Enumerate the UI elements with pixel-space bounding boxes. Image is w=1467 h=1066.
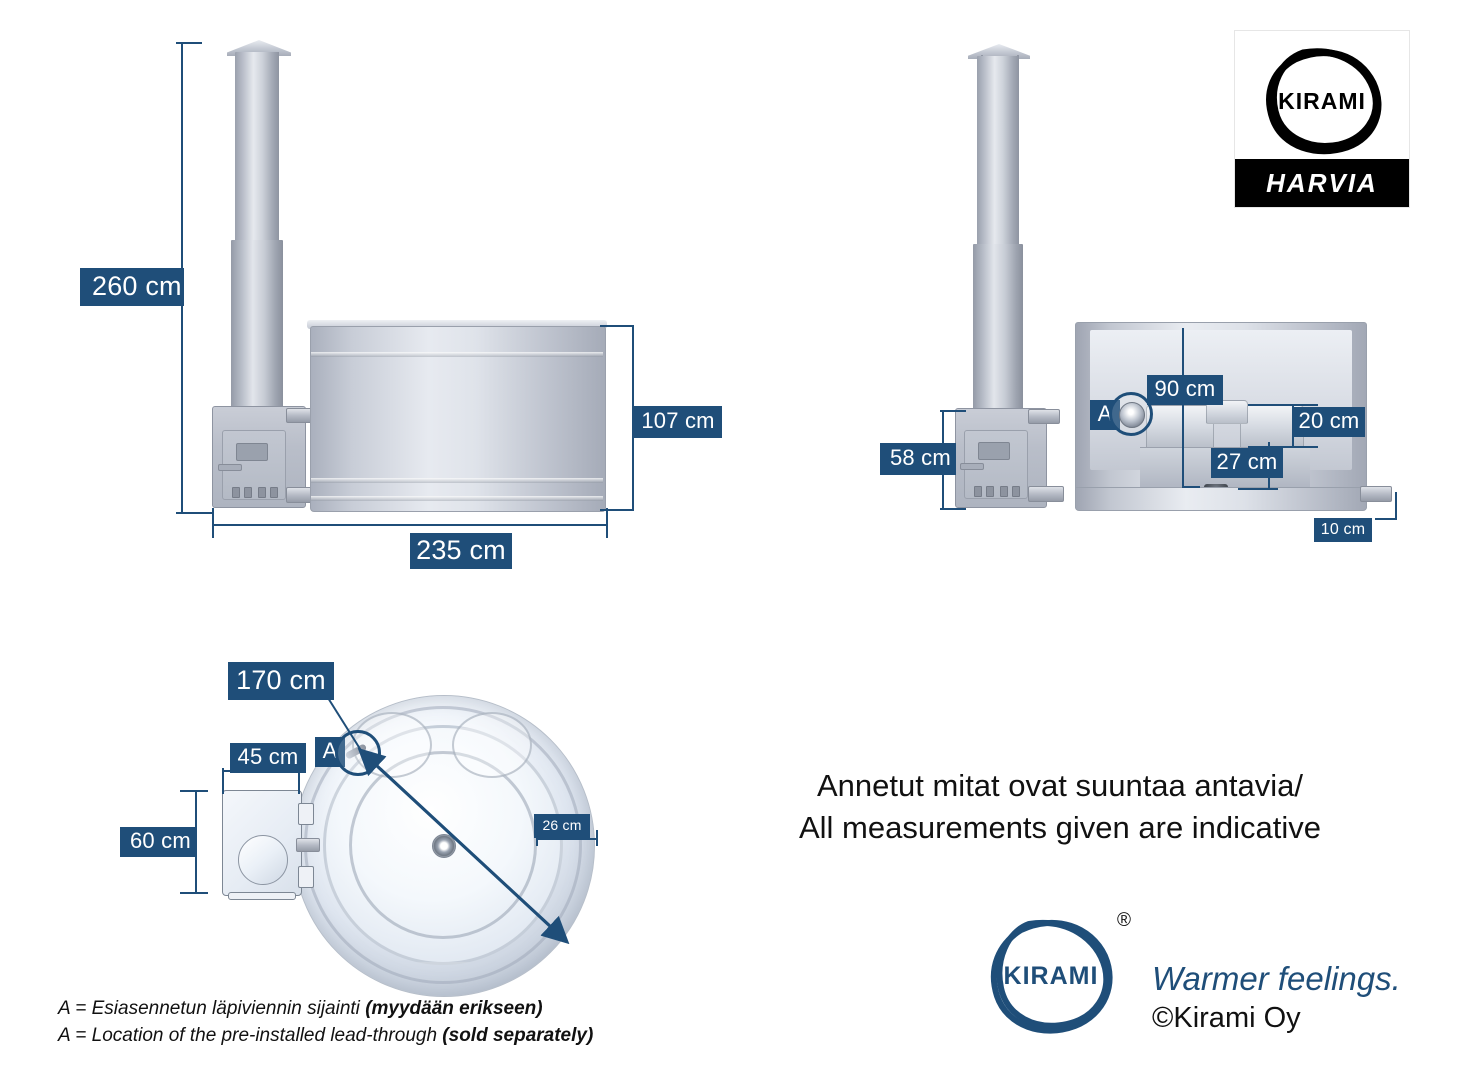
dim-60-tick-top bbox=[180, 790, 208, 792]
svg-text:KIRAMI: KIRAMI bbox=[1004, 962, 1099, 990]
dimension-label-170cm: 170 cm bbox=[228, 662, 334, 700]
heater-plan-chimney-hole bbox=[238, 835, 288, 885]
tagline: Warmer feelings. bbox=[1152, 960, 1401, 998]
dimension-label-235cm: 235 cm bbox=[410, 533, 512, 569]
drawing-canvas: 260 cm 107 cm 235 cm bbox=[0, 0, 1467, 1066]
section-heater-vent bbox=[1000, 486, 1008, 497]
dim-260-tick-top bbox=[176, 42, 202, 44]
legend-note: A = Esiasennetun läpiviennin sijainti (m… bbox=[58, 995, 698, 1049]
dim-45-tick-left bbox=[222, 768, 224, 794]
heater-vent bbox=[270, 487, 278, 498]
heater-vent bbox=[258, 487, 266, 498]
legend-fi-text: A = Esiasennetun läpiviennin sijainti bbox=[58, 998, 365, 1019]
dimension-label-58cm: 58 cm bbox=[880, 443, 956, 475]
legend-en-bold: (sold separately) bbox=[442, 1025, 593, 1046]
dim-107-tick-top bbox=[600, 325, 634, 327]
dim-90-line bbox=[1182, 328, 1184, 488]
section-chimney-upper bbox=[977, 56, 1019, 246]
dimension-label-10cm: 10 cm bbox=[1314, 518, 1372, 542]
copyright: ©Kirami Oy bbox=[1152, 1002, 1301, 1035]
indicative-note-en: All measurements given are indicative bbox=[730, 807, 1390, 849]
section-heater-vent bbox=[974, 486, 982, 497]
dim-60-tick-bottom bbox=[180, 892, 208, 894]
chimney-lower-section bbox=[231, 240, 283, 412]
section-seat-left bbox=[1146, 405, 1214, 449]
harvia-band: HARVIA bbox=[1235, 159, 1409, 207]
registered-trademark-icon: ® bbox=[1117, 910, 1131, 932]
section-tub-base-band bbox=[1075, 487, 1367, 511]
dim-10-line bbox=[1395, 492, 1397, 520]
lead-through-icon bbox=[1119, 402, 1145, 428]
chimney-upper-section bbox=[235, 52, 279, 242]
section-heater-brand-plate bbox=[978, 442, 1010, 460]
heater-door-handle bbox=[218, 464, 242, 471]
dimension-label-90cm: 90 cm bbox=[1147, 375, 1223, 405]
indicative-note: Annetut mitat ovat suuntaa antavia/ All … bbox=[730, 765, 1390, 849]
dimension-label-26cm: 26 cm bbox=[534, 814, 590, 838]
section-heater-vent bbox=[986, 486, 994, 497]
dim-27-tick-bottom bbox=[1238, 488, 1278, 490]
dim-26-line bbox=[536, 838, 598, 840]
dimension-label-45cm: 45 cm bbox=[230, 743, 306, 773]
legend-en-text: A = Location of the pre-installed lead-t… bbox=[58, 1025, 442, 1046]
indicative-note-fi: Annetut mitat ovat suuntaa antavia/ bbox=[730, 765, 1390, 807]
dim-20-tick-top bbox=[1248, 404, 1318, 406]
section-heater-upper-nozzle bbox=[1028, 409, 1060, 424]
dimension-label-27cm: 27 cm bbox=[1211, 448, 1283, 478]
section-heater-lower-nozzle bbox=[1028, 486, 1064, 502]
heater-brand-plate bbox=[236, 443, 268, 461]
legend-note-en: A = Location of the pre-installed lead-t… bbox=[58, 1022, 698, 1049]
kirami-footer-loop-mark: KIRAMI bbox=[975, 908, 1135, 1048]
section-heater-door-handle bbox=[960, 463, 984, 470]
dimension-label-60cm: 60 cm bbox=[120, 827, 196, 857]
heater-plan-foot-rail bbox=[228, 892, 296, 900]
tub-rib-lower bbox=[311, 478, 603, 483]
legend-note-fi: A = Esiasennetun läpiviennin sijainti (m… bbox=[58, 995, 698, 1022]
dim-235-tick-right bbox=[606, 508, 608, 538]
dim-235-line bbox=[212, 524, 608, 526]
heater-vent bbox=[232, 487, 240, 498]
dimension-label-107cm: 107 cm bbox=[634, 406, 722, 438]
heater-vent bbox=[244, 487, 252, 498]
dim-90-tick-bottom bbox=[1182, 486, 1200, 488]
kirami-loop-mark: KIRAMI bbox=[1247, 39, 1397, 159]
tub-rib-base bbox=[311, 496, 603, 501]
svg-text:KIRAMI: KIRAMI bbox=[1278, 88, 1366, 114]
dim-235-tick-left bbox=[212, 508, 214, 538]
dimension-arrow-170cm bbox=[300, 660, 600, 960]
dimension-label-20cm: 20 cm bbox=[1293, 407, 1365, 437]
dim-10-tick-bottom bbox=[1375, 518, 1397, 520]
dim-26-tick-right bbox=[596, 830, 598, 846]
tub-rib-upper bbox=[311, 352, 603, 357]
harvia-wordmark: HARVIA bbox=[1266, 168, 1378, 199]
section-drain-valve bbox=[1360, 486, 1392, 502]
section-heater-vent bbox=[1012, 486, 1020, 497]
kirami-harvia-logo: KIRAMI HARVIA bbox=[1234, 30, 1410, 208]
dim-58-tick-top bbox=[940, 410, 966, 412]
section-chimney-lower bbox=[973, 244, 1023, 412]
dim-260-tick-bottom bbox=[176, 512, 212, 514]
legend-fi-bold: (myydään erikseen) bbox=[365, 998, 542, 1019]
dimension-label-260cm: 260 cm bbox=[80, 268, 184, 306]
dim-58-tick-bottom bbox=[940, 508, 966, 510]
